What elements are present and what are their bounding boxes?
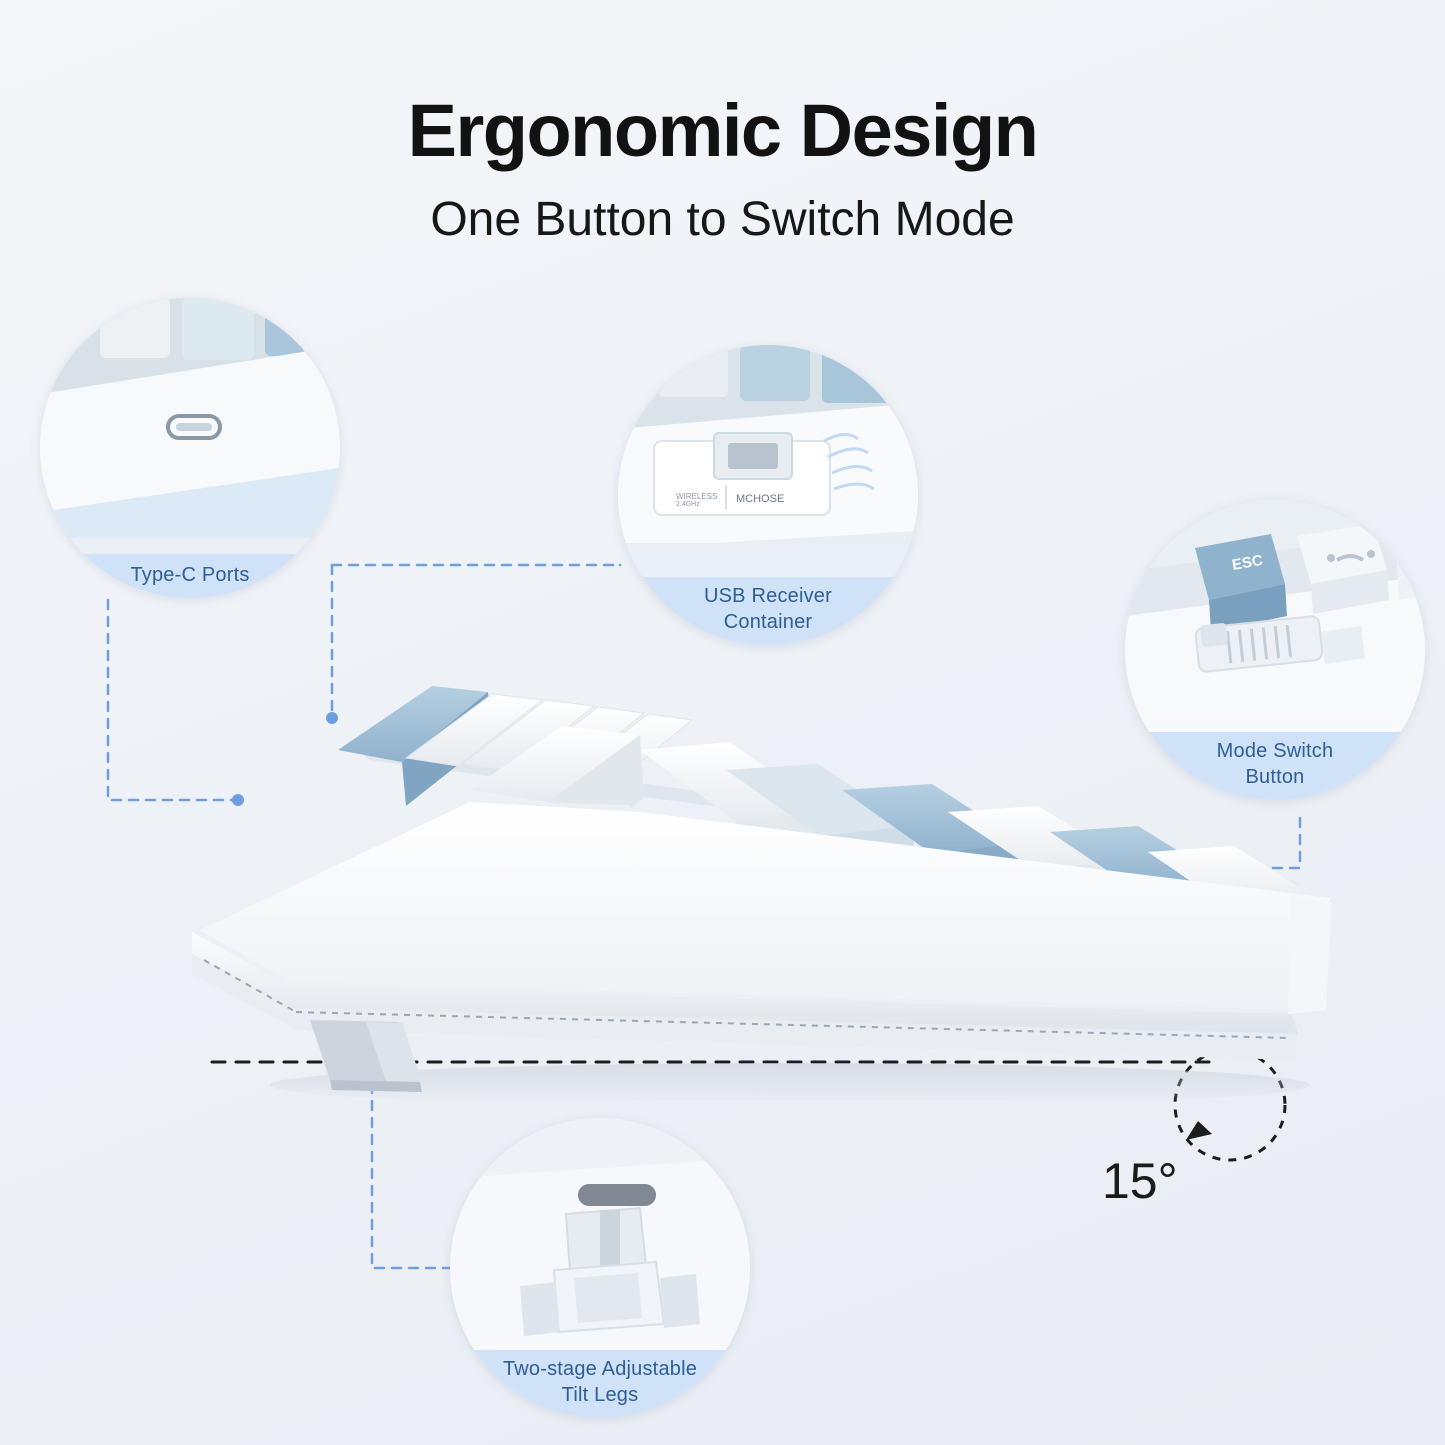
svg-text:WIRELESS: WIRELESS	[676, 492, 717, 501]
callout-caption-type-c-ports: Type-C Ports	[40, 554, 340, 598]
callout-usb-receiver-container[interactable]: WIRELESS 2.4GHz MCHOSE USB Receiver Cont…	[618, 345, 918, 645]
caption-line-1: Two-stage Adjustable	[456, 1356, 744, 1382]
tilt-angle-label: 15°	[1102, 1152, 1178, 1210]
callout-caption-mode-switch-button: Mode Switch Button	[1125, 732, 1425, 800]
caption-line-1: Mode Switch	[1131, 738, 1419, 764]
callout-type-c-ports[interactable]: Type-C Ports	[40, 298, 340, 598]
product-infographic: Ergonomic Design One Button to Switch Mo…	[0, 0, 1445, 1445]
caption-line-2: Container	[624, 609, 912, 635]
callout-caption-tilt-legs: Two-stage Adjustable Tilt Legs	[450, 1350, 750, 1418]
type-c-ports-photo	[40, 298, 340, 598]
page-title: Ergonomic Design	[0, 88, 1445, 173]
caption-line-1: USB Receiver	[624, 583, 912, 609]
svg-text:MCHOSE: MCHOSE	[736, 493, 784, 505]
callout-mode-switch-button[interactable]: ESC Mode Switch Button	[1125, 500, 1425, 800]
callout-caption-usb-receiver-container: USB Receiver Container	[618, 577, 918, 645]
page-subtitle: One Button to Switch Mode	[0, 192, 1445, 247]
caption-line-2: Button	[1131, 764, 1419, 790]
callout-tilt-legs[interactable]: Two-stage Adjustable Tilt Legs	[450, 1118, 750, 1418]
caption-line-2: Tilt Legs	[456, 1382, 744, 1408]
svg-text:2.4GHz: 2.4GHz	[676, 501, 700, 508]
